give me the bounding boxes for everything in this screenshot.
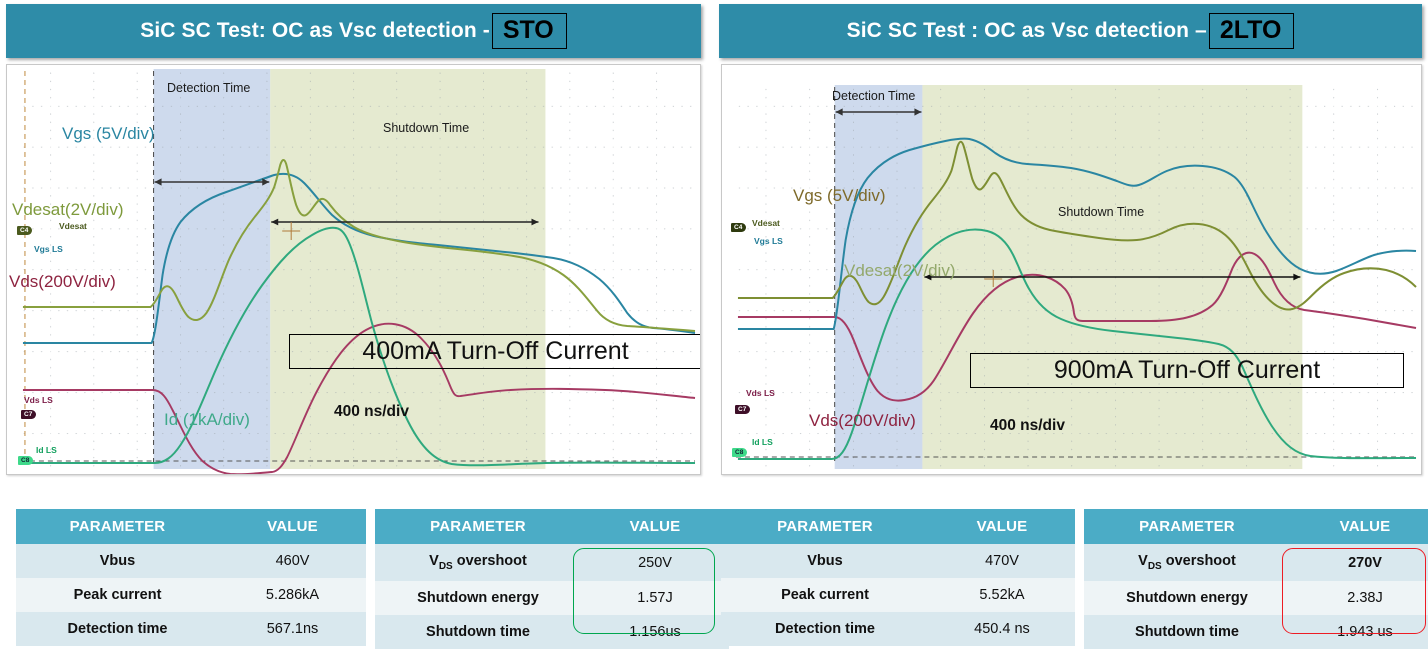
timebase-label: 400 ns/div	[334, 403, 409, 421]
shutdown-time-label: Shutdown Time	[383, 121, 469, 135]
channel-label-id-ls: Id LS	[36, 445, 57, 455]
cell-key: Peak current	[721, 578, 929, 612]
channel-tag-c4[interactable]: C4	[17, 226, 32, 235]
cell-key: VDS overshoot	[375, 544, 581, 581]
cell-value: 470V	[929, 544, 1075, 578]
trace-label-id: Id (1kA/div)	[164, 410, 250, 430]
col-header-parameter: PARAMETER	[375, 509, 581, 544]
cell-value: 567.1ns	[219, 612, 366, 646]
table-row: Detection time450.4 ns	[721, 612, 1075, 646]
channel-tag-c8[interactable]: C8	[732, 448, 747, 457]
table-row: Shutdown energy1.57J	[375, 581, 729, 615]
cell-key: Shutdown time	[375, 615, 581, 649]
panel-sto: SiC SC Test: OC as Vsc detection - STO	[0, 0, 707, 649]
channel-label-vgs-ls: Vgs LS	[34, 244, 63, 254]
trace-label-vgs: Vgs (5V/div)	[793, 186, 886, 206]
col-header-value: VALUE	[219, 509, 366, 544]
channel-label-id-ls: Id LS	[752, 437, 773, 447]
table-wrap-right-sto: PARAMETER VALUE VDS overshoot250V Shutdo…	[375, 509, 729, 649]
trace-label-vgs: Vgs (5V/div)	[62, 124, 155, 144]
cell-value: 270V	[1290, 544, 1428, 581]
cell-value: 450.4 ns	[929, 612, 1075, 646]
trace-label-vds: Vds(200V/div)	[809, 411, 916, 431]
oscilloscope-sto[interactable]: Detection Time Shutdown Time Vgs (5V/div…	[6, 64, 701, 475]
col-header-parameter: PARAMETER	[16, 509, 219, 544]
table-row: Shutdown energy2.38J	[1084, 581, 1428, 615]
channel-tag-c7[interactable]: C7	[21, 410, 36, 419]
tables-sto: PARAMETER VALUE Vbus460V Peak current5.2…	[0, 509, 707, 649]
col-header-value: VALUE	[1290, 509, 1428, 544]
cell-key: VDS overshoot	[1084, 544, 1290, 581]
col-header-parameter: PARAMETER	[1084, 509, 1290, 544]
cell-key: Peak current	[16, 578, 219, 612]
cell-value: 250V	[581, 544, 729, 581]
table-wrap-left-2lto: PARAMETER VALUE Vbus470V Peak current5.5…	[721, 509, 1075, 649]
table-row: Peak current5.52kA	[721, 578, 1075, 612]
table-row: VDS overshoot250V	[375, 544, 729, 581]
cell-key: Shutdown time	[1084, 615, 1290, 649]
param-table-1: PARAMETER VALUE Vbus470V Peak current5.5…	[721, 509, 1075, 646]
cell-value: 460V	[219, 544, 366, 578]
turn-off-current-callout: 900mA Turn-Off Current	[970, 353, 1404, 388]
table-row: Vbus470V	[721, 544, 1075, 578]
trace-label-vdesat: Vdesat(2V/div)	[12, 200, 124, 220]
detection-time-label: Detection Time	[167, 81, 250, 95]
col-header-value: VALUE	[581, 509, 729, 544]
channel-label-vdesat: Vdesat	[59, 221, 87, 231]
cell-value: 5.286kA	[219, 578, 366, 612]
table-header-row: PARAMETER VALUE	[375, 509, 729, 544]
cell-value: 5.52kA	[929, 578, 1075, 612]
shutdown-time-label: Shutdown Time	[1058, 205, 1144, 219]
cell-key: Shutdown energy	[375, 581, 581, 615]
param-table-1: PARAMETER VALUE Vbus460V Peak current5.2…	[16, 509, 366, 646]
col-header-parameter: PARAMETER	[721, 509, 929, 544]
panel-2lto: SiC SC Test : OC as Vsc detection – 2LTO	[713, 0, 1428, 649]
param-table-2: PARAMETER VALUE VDS overshoot250V Shutdo…	[375, 509, 729, 649]
col-header-value: VALUE	[929, 509, 1075, 544]
channel-label-vdesat: Vdesat	[752, 218, 780, 228]
cell-key: Detection time	[721, 612, 929, 646]
detection-time-label: Detection Time	[832, 89, 915, 103]
timebase-label: 400 ns/div	[990, 417, 1065, 435]
table-row: Peak current5.286kA	[16, 578, 366, 612]
table-row: Detection time567.1ns	[16, 612, 366, 646]
channel-tag-c8[interactable]: C8	[18, 456, 33, 465]
cell-key: Shutdown energy	[1084, 581, 1290, 615]
channel-tag-c4[interactable]: C4	[731, 223, 746, 232]
cell-value-highlight: 1.156us	[581, 615, 729, 649]
banner-tag-2lto: 2LTO	[1209, 13, 1295, 50]
tables-2lto: PARAMETER VALUE Vbus470V Peak current5.5…	[713, 509, 1428, 649]
channel-label-vds-ls: Vds LS	[746, 388, 775, 398]
banner-tag-sto: STO	[492, 13, 567, 50]
banner-title: SiC SC Test: OC as Vsc detection -	[140, 19, 490, 43]
oscilloscope-2lto[interactable]: Detection Time Shutdown Time Vgs (5V/div…	[721, 64, 1422, 475]
cell-key: Vbus	[721, 544, 929, 578]
table-row: Shutdown time1.943 us	[1084, 615, 1428, 649]
channel-label-vgs-ls: Vgs LS	[754, 236, 783, 246]
channel-tag-c7[interactable]: C7	[735, 405, 750, 414]
table-row: Vbus460V	[16, 544, 366, 578]
table-row: Shutdown time1.156us	[375, 615, 729, 649]
cell-value-highlight: 1.57J	[581, 581, 729, 615]
channel-label-vds-ls: Vds LS	[24, 395, 53, 405]
cell-key: Detection time	[16, 612, 219, 646]
table-wrap-right-2lto: PARAMETER VALUE VDS overshoot270V Shutdo…	[1084, 509, 1428, 649]
turn-off-current-callout: 400mA Turn-Off Current	[289, 334, 701, 369]
table-row: VDS overshoot270V	[1084, 544, 1428, 581]
cell-key: Vbus	[16, 544, 219, 578]
banner-title: SiC SC Test : OC as Vsc detection –	[847, 19, 1207, 43]
table-wrap-left-sto: PARAMETER VALUE Vbus460V Peak current5.2…	[16, 509, 366, 649]
cell-value-highlight: 2.38J	[1290, 581, 1428, 615]
trace-label-vds: Vds(200V/div)	[9, 272, 116, 292]
banner-2lto: SiC SC Test : OC as Vsc detection – 2LTO	[719, 4, 1422, 58]
table-header-row: PARAMETER VALUE	[721, 509, 1075, 544]
table-header-row: PARAMETER VALUE	[1084, 509, 1428, 544]
param-table-2: PARAMETER VALUE VDS overshoot270V Shutdo…	[1084, 509, 1428, 649]
trace-label-vdesat: Vdesat(2V/div)	[844, 261, 956, 281]
cell-value-highlight: 1.943 us	[1290, 615, 1428, 649]
table-header-row: PARAMETER VALUE	[16, 509, 366, 544]
banner-sto: SiC SC Test: OC as Vsc detection - STO	[6, 4, 701, 58]
slide-root: SiC SC Test: OC as Vsc detection - STO	[0, 0, 1428, 649]
